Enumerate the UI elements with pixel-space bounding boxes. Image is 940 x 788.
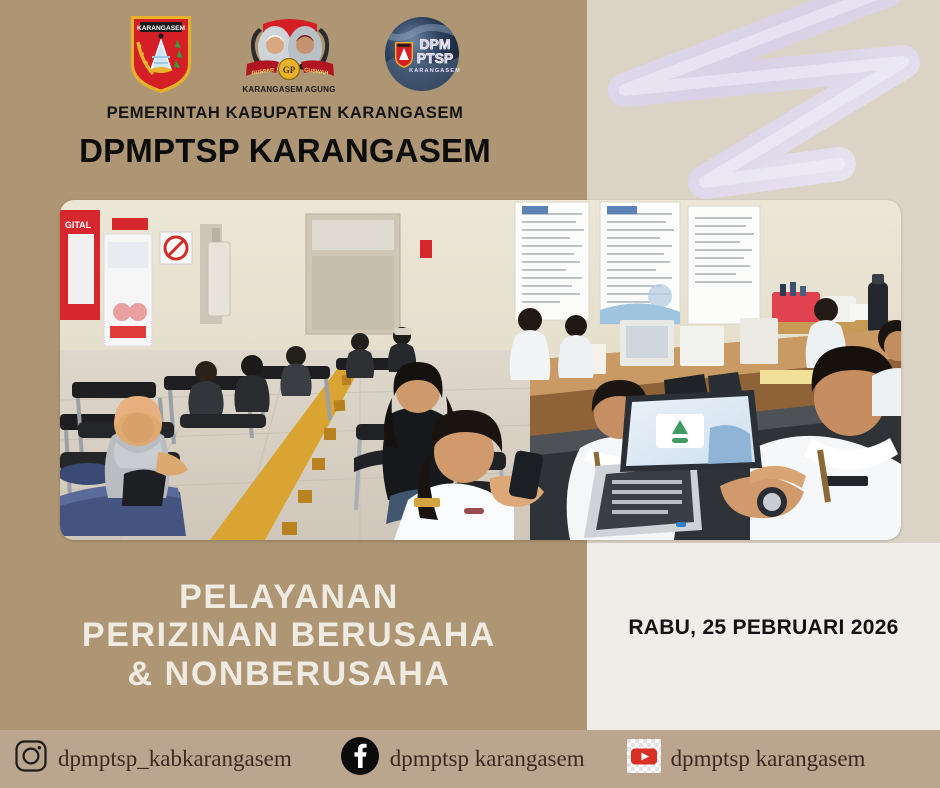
headline-block: PELAYANAN PERIZINAN BERUSAHA & NONBERUSA… <box>0 578 578 693</box>
svg-text:KARANGASEM: KARANGASEM <box>137 25 185 32</box>
facebook-icon <box>340 736 380 782</box>
headline-line-2: PERIZINAN BERUSAHA <box>0 616 578 654</box>
logo-row: KARANGASEM <box>0 10 587 102</box>
svg-text:GITAL: GITAL <box>65 220 92 230</box>
organization-title: DPMPTSP KARANGASEM <box>0 134 570 169</box>
youtube-handle: dpmptsp karangasem <box>671 746 866 772</box>
poster-canvas: KARANGASEM <box>0 0 940 788</box>
social-youtube[interactable]: dpmptsp karangasem <box>627 739 866 779</box>
headline-line-3: & NONBERUSAHA <box>0 655 578 693</box>
karangasem-agung-leadership-icon: GUSPAR GUSWAH GP KARANGASEM AGUNG <box>239 12 339 101</box>
social-instagram[interactable]: dpmptsp_kabkarangasem <box>14 739 292 779</box>
instagram-icon <box>14 739 48 779</box>
facebook-handle: dpmptsp karangasem <box>390 746 585 772</box>
karangasem-regency-crest-icon: KARANGASEM <box>127 12 195 101</box>
government-line: PEMERINTAH KABUPATEN KARANGASEM <box>0 104 570 122</box>
social-links-row: dpmptsp_kabkarangasem dpmptsp karangasem <box>0 730 940 788</box>
svg-text:GP: GP <box>282 65 295 75</box>
svg-text:KARANGASEM: KARANGASEM <box>409 68 461 74</box>
service-photo: GITAL <box>60 200 901 540</box>
svg-text:KARANGASEM AGUNG: KARANGASEM AGUNG <box>242 85 335 94</box>
svg-text:PTSP: PTSP <box>416 50 453 66</box>
youtube-icon <box>627 739 661 779</box>
event-date: RABU, 25 PEBRUARI 2026 <box>587 616 940 640</box>
instagram-handle: dpmptsp_kabkarangasem <box>58 746 292 772</box>
headline-line-1: PELAYANAN <box>0 578 578 616</box>
social-facebook[interactable]: dpmptsp karangasem <box>340 736 585 782</box>
header-text-block: PEMERINTAH KABUPATEN KARANGASEM DPMPTSP … <box>0 104 570 169</box>
dpmptsp-karangasem-logo-icon: DPM PTSP KARANGASEM <box>383 15 461 98</box>
